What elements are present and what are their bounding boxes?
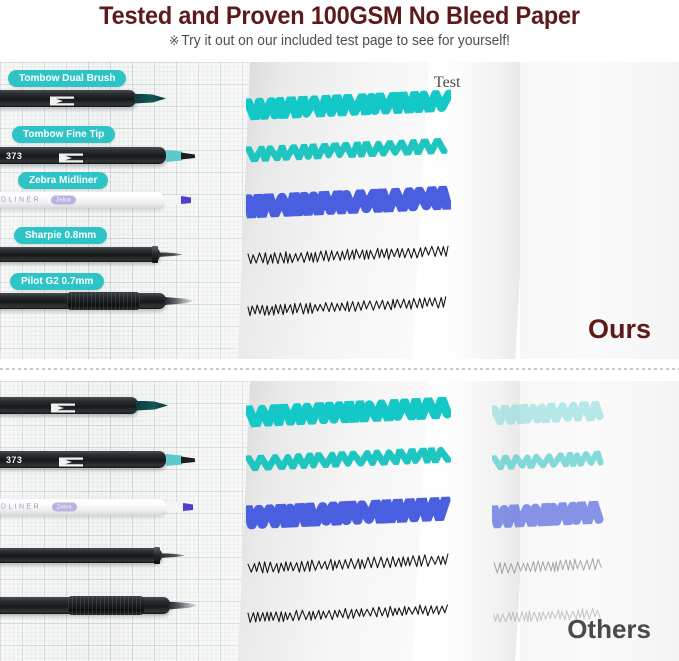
- pen-label-tombow-fine-tip: Tombow Fine Tip: [12, 126, 115, 143]
- pilot-g2-swatch: [246, 300, 461, 313]
- midliner-wordmark: MILDLINER: [0, 197, 41, 204]
- panel-ours: Test 373MILDLINERZebra Ours Tombow Dual …: [0, 62, 679, 359]
- pen-label-pilot-g2-0-7mm: Pilot G2 0.7mm: [10, 273, 104, 290]
- pen-1: [0, 397, 138, 414]
- tombow-fine-tip-swatch: [246, 142, 461, 158]
- pen-label-sharpie-0-8mm: Sharpie 0.8mm: [14, 227, 107, 244]
- bleed-sharpie: [492, 559, 612, 573]
- rubber-grip: [67, 292, 141, 310]
- rubber-grip: [68, 596, 143, 615]
- pen-1: [0, 90, 136, 107]
- pen-label-zebra-midliner: Zebra Midliner: [18, 172, 108, 189]
- zebra-badge: Zebra: [52, 503, 77, 512]
- caption-others: Others: [567, 614, 651, 645]
- test-page-label-ours: Test: [434, 74, 460, 92]
- bleed-tombow-fine-tip: [492, 453, 612, 468]
- pen-3: MILDLINERZebra: [0, 192, 164, 208]
- zebra-midliner-swatch: [246, 501, 461, 525]
- cutting-mat-grid-others: [0, 381, 250, 661]
- zebra-midliner-swatch: [246, 190, 461, 214]
- tombow-logo-icon: [58, 150, 84, 161]
- pen-ring: [154, 547, 160, 564]
- tombow-logo-icon: [49, 93, 75, 104]
- chisel-tip: [166, 149, 196, 163]
- header: Tested and Proven 100GSM No Bleed Paper …: [0, 0, 679, 60]
- panel-divider: [0, 368, 679, 370]
- ink-swatches-ours: [246, 62, 476, 359]
- page-subtitle: ※Try it out on our included test page to…: [17, 33, 662, 49]
- chisel-tip: [166, 453, 196, 467]
- pilot-g2-swatch: [246, 607, 461, 620]
- page-title: Tested and Proven 100GSM No Bleed Paper: [20, 2, 658, 31]
- bleed-tombow-dual-brush: [492, 403, 612, 423]
- midliner-wordmark: MILDLINER: [0, 504, 41, 511]
- pen-ring: [152, 246, 158, 263]
- sharpie-swatch: [246, 557, 461, 571]
- panel-others: 373MILDLINERZebra Others: [0, 381, 679, 661]
- pen-barrel: [0, 247, 160, 262]
- chisel-tip: [164, 193, 194, 207]
- pen-4: [0, 247, 160, 262]
- pen-5: [0, 597, 170, 614]
- ink-swatches-others: [246, 381, 476, 661]
- pen-color-code: 373: [6, 151, 22, 161]
- pen-barrel: [0, 548, 162, 563]
- bleed-zebra-midliner: [492, 503, 612, 526]
- pen-3: MILDLINERZebra: [0, 499, 166, 515]
- sharpie-swatch: [246, 248, 461, 262]
- caption-ours: Ours: [588, 314, 651, 345]
- tombow-dual-brush-swatch: [246, 94, 461, 116]
- tombow-logo-icon: [58, 454, 84, 465]
- zebra-badge: Zebra: [51, 196, 76, 205]
- page-subtitle-text: Try it out on our included test page to …: [181, 33, 510, 49]
- pen-label-tombow-dual-brush: Tombow Dual Brush: [8, 70, 126, 87]
- tombow-logo-icon: [50, 400, 76, 411]
- pen-2: 373: [0, 451, 166, 468]
- pen-5: [0, 293, 166, 309]
- pen-2: 373: [0, 147, 166, 164]
- pen-color-code: 373: [6, 455, 22, 465]
- pen-4: [0, 548, 162, 563]
- sparkle-icon: ※: [169, 33, 179, 48]
- tombow-fine-tip-swatch: [246, 451, 461, 467]
- chisel-tip: [166, 500, 196, 514]
- product-comparison-image: Tested and Proven 100GSM No Bleed Paper …: [0, 0, 679, 661]
- tombow-dual-brush-swatch: [246, 401, 461, 423]
